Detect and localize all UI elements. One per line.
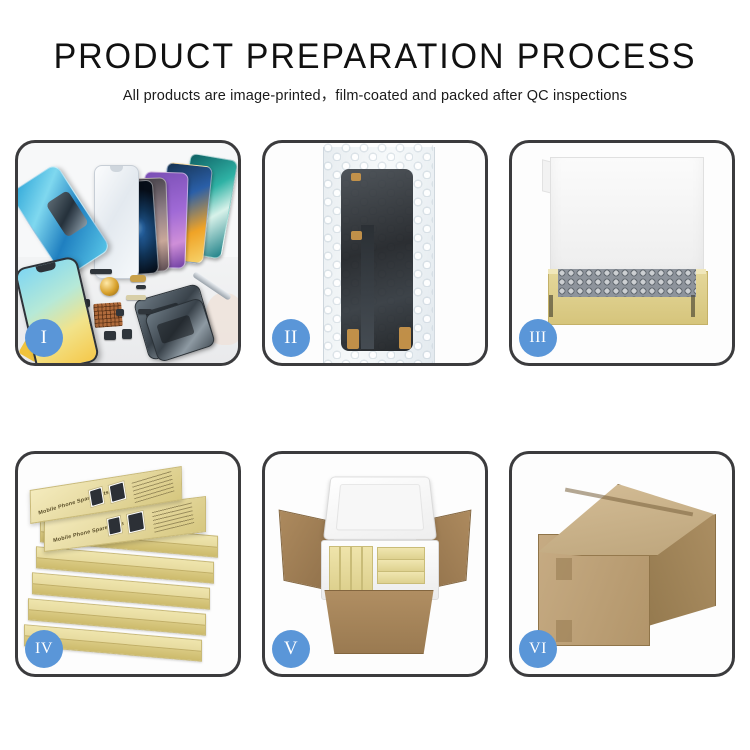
carton-tape-patch (556, 558, 572, 580)
part-chip (104, 331, 116, 340)
process-step-2: II (262, 140, 488, 366)
inner-kraft-box (340, 546, 351, 590)
packed-lcd-part (341, 169, 413, 351)
gold-contact-tab (399, 327, 411, 349)
inner-kraft-box (377, 571, 425, 584)
step-badge-6: VI (519, 630, 557, 668)
step-badge-2: II (272, 319, 310, 357)
header: PRODUCT PREPARATION PROCESS All products… (0, 36, 750, 105)
process-steps-grid: I II (15, 140, 735, 740)
inner-boxes (327, 546, 431, 590)
step-badge-1: I (25, 319, 63, 357)
speaker-coil-part (100, 277, 119, 296)
step-badge-4: IV (25, 630, 63, 668)
gold-contact-tab (351, 173, 361, 181)
process-step-4: Mobile Phone Spare Parts Mobile Phone Sp… (15, 451, 241, 677)
process-step-6: VI (509, 451, 735, 677)
step-badge-5: V (272, 630, 310, 668)
bubble-wrap-filling (558, 269, 696, 297)
carton-body (317, 590, 441, 654)
box-lid-flap (550, 157, 704, 280)
part-chip (90, 269, 112, 274)
part-chip (122, 329, 132, 339)
step-badge-3: III (519, 319, 557, 357)
carton-tape-patch (556, 620, 572, 642)
bubble-texture (558, 269, 696, 297)
page-title: PRODUCT PREPARATION PROCESS (11, 36, 739, 78)
inner-kraft-box (351, 546, 362, 590)
part-flex-cable (126, 295, 146, 300)
part-chip (136, 285, 146, 289)
box-notch-left (549, 295, 553, 317)
page-subtitle: All products are image-printed，film-coat… (0, 87, 750, 105)
process-step-1: I (15, 140, 241, 366)
box-window (126, 510, 146, 535)
part-flex-cable (361, 225, 374, 349)
box-window (106, 515, 123, 537)
gold-contact-tab (347, 329, 359, 349)
product-preparation-infographic: PRODUCT PREPARATION PROCESS All products… (0, 0, 750, 750)
process-step-5: V (262, 451, 488, 677)
box-notch-right (691, 295, 695, 317)
gold-contact-tab (351, 231, 362, 240)
tempered-glass-screen (94, 165, 139, 279)
part-chip (116, 309, 124, 316)
box-spec-lines (152, 501, 194, 532)
box-window (88, 486, 106, 509)
inner-kraft-box (329, 546, 340, 590)
part-connector (130, 275, 146, 282)
box-window (108, 480, 128, 504)
inner-kraft-box (362, 546, 373, 590)
process-step-3: III (509, 140, 735, 366)
box-spec-lines (132, 470, 175, 503)
foam-box-lid (323, 477, 437, 540)
